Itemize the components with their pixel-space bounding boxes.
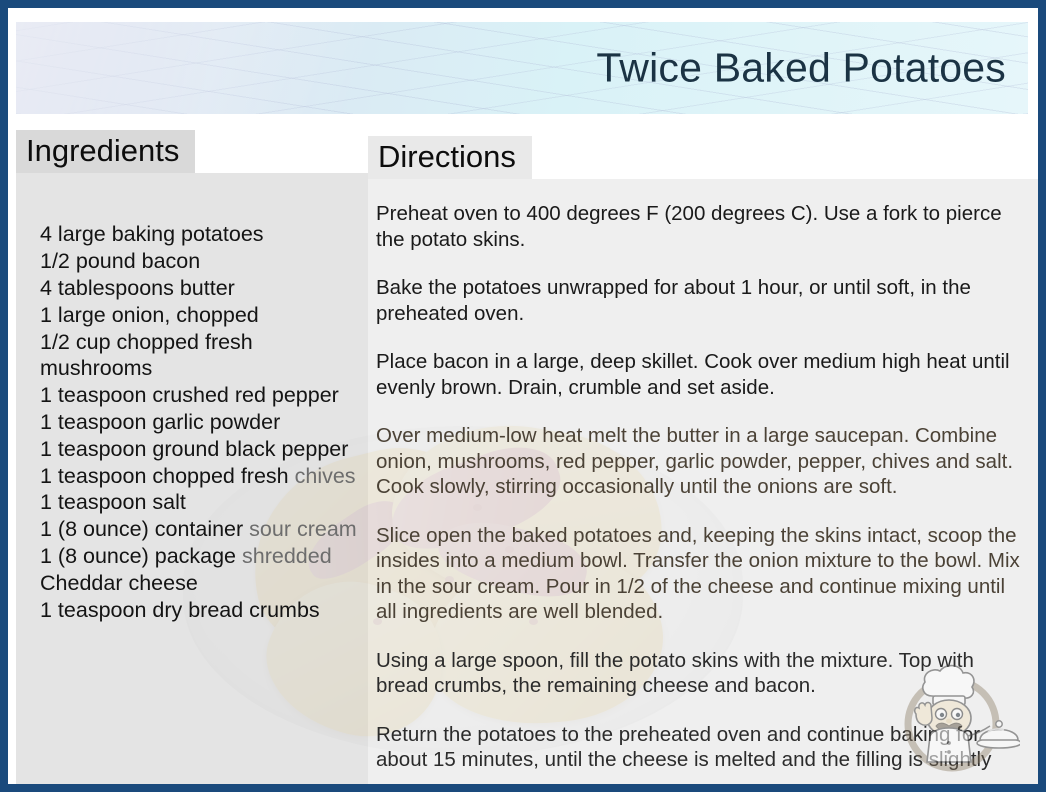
ingredient-item: 1 large onion, chopped bbox=[40, 302, 344, 329]
ingredient-item: 1 (8 ounce) container sour cream bbox=[40, 516, 344, 543]
ingredients-text-block: 4 large baking potatoes 1/2 pound bacon … bbox=[26, 197, 356, 639]
ingredient-muted-text: shredded bbox=[242, 544, 332, 568]
slide-page: Twice Baked Potatoes Ingredients 4 l bbox=[8, 8, 1038, 784]
direction-step: Preheat oven to 400 degrees F (200 degre… bbox=[376, 201, 1024, 252]
directions-heading: Directions bbox=[368, 136, 532, 179]
title-banner: Twice Baked Potatoes bbox=[16, 22, 1028, 114]
ingredient-item: 1/2 pound bacon bbox=[40, 248, 344, 275]
ingredient-item: 1 teaspoon chopped fresh chives bbox=[40, 463, 344, 490]
ingredient-item: 1 teaspoon crushed red pepper bbox=[40, 382, 344, 409]
directions-column: Directions Preheat oven to 400 degrees F… bbox=[368, 136, 1038, 784]
ingredients-column: Ingredients 4 large baking potatoes 1/2 … bbox=[16, 130, 368, 784]
ingredient-item: mushrooms bbox=[40, 355, 344, 382]
slide-canvas: Twice Baked Potatoes Ingredients 4 l bbox=[0, 0, 1046, 792]
ingredient-item: 1 teaspoon ground black pepper bbox=[40, 436, 344, 463]
page-title: Twice Baked Potatoes bbox=[596, 45, 1006, 92]
ingredients-list: 4 large baking potatoes 1/2 pound bacon … bbox=[16, 173, 368, 784]
direction-step: Return the potatoes to the preheated ove… bbox=[376, 722, 1024, 773]
ingredient-item: 4 large baking potatoes bbox=[40, 221, 344, 248]
ingredient-muted-text: chives bbox=[295, 464, 356, 488]
ingredient-item: 4 tablespoons butter bbox=[40, 275, 344, 302]
ingredient-item: 1 teaspoon dry bread crumbs bbox=[40, 597, 344, 624]
ingredient-muted-text: sour cream bbox=[249, 517, 357, 541]
ingredient-item: Cheddar cheese bbox=[40, 570, 344, 597]
ingredient-item: 1/2 cup chopped fresh bbox=[40, 329, 344, 356]
ingredient-item: 1 teaspoon salt bbox=[40, 489, 344, 516]
direction-step: Over medium-low heat melt the butter in … bbox=[376, 423, 1024, 500]
ingredients-heading: Ingredients bbox=[16, 130, 195, 173]
directions-text-block: Preheat oven to 400 degrees F (200 degre… bbox=[368, 179, 1038, 773]
direction-step: Bake the potatoes unwrapped for about 1 … bbox=[376, 275, 1024, 326]
direction-step: Place bacon in a large, deep skillet. Co… bbox=[376, 349, 1024, 400]
ingredient-item: 1 teaspoon garlic powder bbox=[40, 409, 344, 436]
direction-step: Slice open the baked potatoes and, keepi… bbox=[376, 523, 1024, 625]
directions-body: Preheat oven to 400 degrees F (200 degre… bbox=[368, 179, 1038, 784]
direction-step: Using a large spoon, fill the potato ski… bbox=[376, 648, 1024, 699]
ingredient-item: 1 (8 ounce) package shredded bbox=[40, 543, 344, 570]
